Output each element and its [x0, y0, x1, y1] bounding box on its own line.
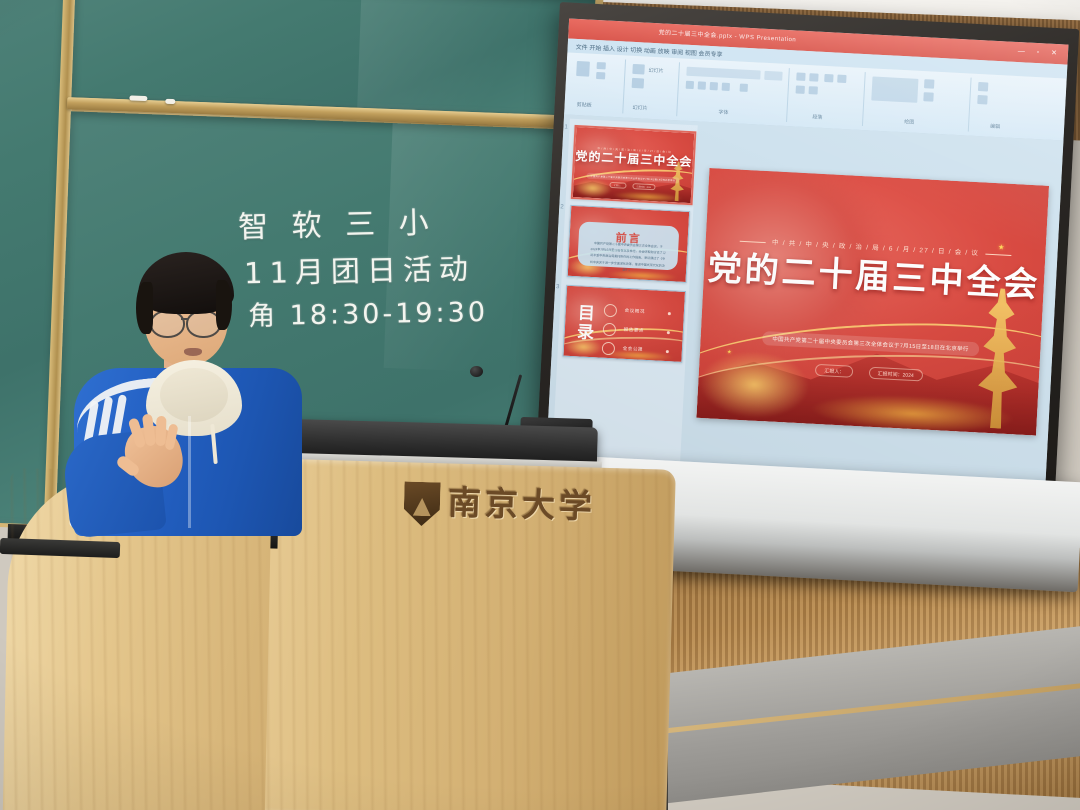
chalk-piece [129, 95, 147, 101]
contents-badge [600, 360, 614, 362]
italic-icon[interactable] [698, 81, 706, 89]
line-spacing-icon[interactable] [809, 86, 818, 94]
shape-fill-icon[interactable] [924, 79, 934, 89]
thumb-slide-art-3: 目 录 会议概况 报告要点 [563, 286, 685, 362]
shape-gallery-icon[interactable] [871, 76, 918, 102]
new-slide-icon[interactable] [632, 64, 645, 75]
presenter [60, 248, 320, 528]
thumb-slide-art-1: 中 / 共 / 中 / 央 / 政 / 治 / 局 / 6 / 月 / 27 /… [573, 127, 695, 203]
jacket-zipper [188, 416, 191, 528]
blackboard-line-1: 智 软 三 小 [237, 198, 436, 247]
slide-number-1: 1 [564, 124, 568, 130]
replace-icon[interactable] [977, 95, 987, 105]
classroom-scene: 智 软 三 小 11月团日活动 角 18:30-19:30 党的二十届三中全会.… [0, 0, 1080, 810]
preface-card: 前言 中国共产党第二十届中央委员会第三次全体会议，于2024年7月15日至18日… [578, 222, 679, 271]
thumb-slide-art-2: 前言 中国共产党第二十届中央委员会第三次全体会议，于2024年7月15日至18日… [568, 206, 690, 282]
pill-presenter: 汇报人： [815, 364, 854, 378]
ribbon-group-paragraph[interactable]: 段落 [788, 68, 866, 126]
contents-item-label: 全会公报 [623, 346, 644, 353]
star-icon: ★ [727, 349, 732, 355]
thumb-pill-date: 汇报时间：2024 [632, 183, 655, 190]
ribbon-group-label: 绘图 [904, 118, 914, 126]
slide-number-3: 3 [556, 284, 560, 290]
font-size-box[interactable] [764, 71, 782, 81]
preface-body: 中国共产党第二十届中央委员会第三次全体会议，于2024年7月15日至18日在北京… [589, 240, 666, 275]
slide-number-2: 2 [560, 204, 564, 210]
align-center-icon[interactable] [837, 75, 846, 83]
ribbon-group-editing[interactable]: 编辑 [970, 78, 1031, 135]
ribbon-group-clipboard[interactable]: 剪贴板 [568, 57, 626, 114]
presenter-mouth [184, 348, 202, 356]
contents-item: 全会公报 [601, 340, 675, 360]
contents-dot [666, 350, 669, 353]
ribbon-group-drawing[interactable]: 绘图 [864, 72, 972, 131]
indent-icon[interactable] [796, 85, 805, 93]
align-left-icon[interactable] [824, 74, 833, 82]
university-name: 南京大学 [447, 476, 596, 528]
copy-icon[interactable] [596, 72, 605, 79]
paste-icon[interactable] [576, 61, 590, 77]
slide-thumbnail-3[interactable]: 目 录 会议概况 报告要点 [562, 285, 686, 363]
ribbon-group-font[interactable]: 字体 [678, 62, 790, 122]
app-title-text: 党的二十届三中全会.pptx - WPS Presentation [658, 27, 796, 43]
ribbon-item-label[interactable]: 幻灯片 [648, 67, 663, 75]
strikethrough-icon[interactable] [722, 83, 730, 91]
ribbon-group-label: 段落 [812, 113, 822, 121]
thumb-pill-presenter: 汇报人： [610, 182, 626, 189]
eyebrow-dash-left [740, 241, 766, 243]
contents-item-label: 报告要点 [624, 327, 645, 334]
contents-item: 会议概况 [603, 302, 677, 322]
contents-item: 报告要点 [602, 321, 676, 341]
jacket-hood-inner [160, 368, 228, 422]
ribbon-group-slides[interactable]: 幻灯片 幻灯片 [624, 60, 680, 117]
slide-thumbnail-2[interactable]: 前言 中国共产党第二十届中央委员会第三次全体会议，于2024年7月15日至18日… [567, 205, 691, 283]
ribbon-group-label: 字体 [718, 108, 728, 116]
blackboard-panel-top [71, 0, 595, 116]
window-controls[interactable]: — ▫ ✕ [1018, 47, 1063, 57]
find-icon[interactable] [978, 82, 988, 92]
glasses-bridge [181, 318, 188, 320]
ribbon-group-label: 剪贴板 [576, 101, 591, 109]
contents-dot [667, 331, 670, 334]
ribbon-group-label: 编辑 [990, 123, 1000, 131]
contents-list: 会议概况 报告要点 全会公报 [600, 302, 677, 362]
text-color-icon[interactable] [740, 84, 748, 92]
underline-icon[interactable] [710, 82, 718, 90]
glasses-left-lens [150, 310, 185, 338]
chalk-piece [165, 99, 175, 104]
slide-artwork: ★ ★ ★ 中 / 共 / 中 / 央 / 政 / 治 / 局 / 6 / 月 … [696, 168, 1049, 435]
microphone-capsule [470, 366, 483, 377]
current-slide[interactable]: ★ ★ ★ 中 / 共 / 中 / 央 / 政 / 治 / 局 / 6 / 月 … [696, 168, 1049, 435]
contents-item: 学思践悟 [600, 359, 674, 362]
contents-badge [601, 341, 615, 355]
contents-heading: 目 录 [572, 303, 600, 343]
bullets-icon[interactable] [796, 72, 805, 80]
contents-badge [602, 322, 616, 336]
font-name-box[interactable] [686, 67, 760, 80]
hair-side-right [216, 280, 232, 330]
contents-dot [668, 312, 671, 315]
cut-icon[interactable] [597, 62, 606, 69]
hair-side-left [136, 282, 153, 334]
shape-outline-icon[interactable] [923, 92, 933, 102]
numbering-icon[interactable] [809, 73, 818, 81]
board-glare [357, 0, 569, 115]
eyebrow-dash-right [985, 253, 1011, 255]
ribbon-group-label: 幻灯片 [632, 104, 647, 112]
contents-badge [603, 303, 617, 317]
contents-item-label: 会议概况 [625, 308, 646, 315]
slide-thumbnail-1[interactable]: 中 / 共 / 中 / 央 / 政 / 治 / 局 / 6 / 月 / 27 /… [571, 125, 697, 205]
layout-icon[interactable] [632, 78, 645, 89]
bold-icon[interactable] [686, 81, 694, 89]
